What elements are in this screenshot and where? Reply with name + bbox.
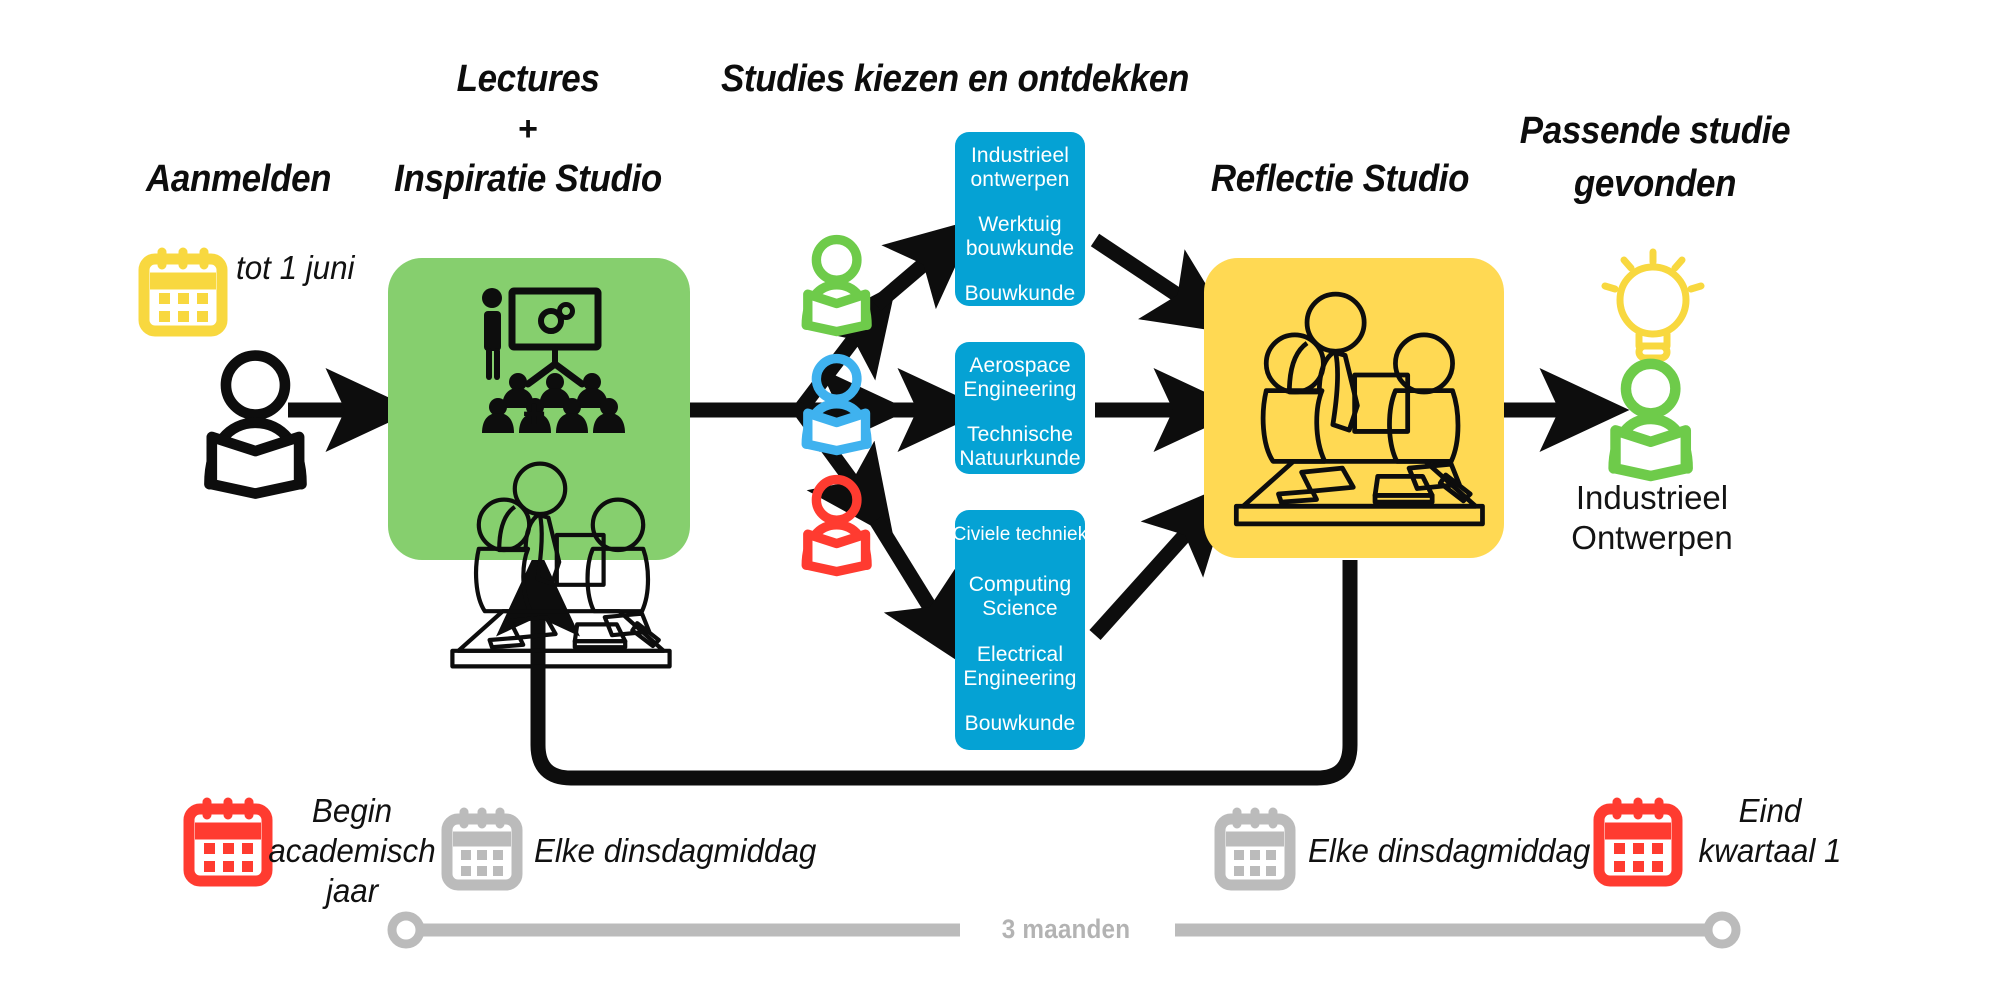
person-reading-blue-icon <box>806 359 867 451</box>
timeline-marker-label-begin-2: academisch <box>268 833 435 870</box>
timeline-duration-label: 3 maanden <box>1002 914 1131 945</box>
timeline-endpoint-right <box>1708 916 1736 944</box>
study-box-bottom-item-2-line-2: Science <box>982 597 1057 621</box>
heading-passende-studie-line2: gevonden <box>1574 163 1736 206</box>
timeline-marker-label-eind-2: kwartaal 1 <box>1699 833 1842 870</box>
study-box-bottom-item-1-line-1: Civiele techniek <box>953 524 1088 546</box>
study-box-bottom-item-4-line-1: Bouwkunde <box>965 712 1076 736</box>
green-box-plus: + <box>522 392 545 437</box>
person-reading-red-icon <box>806 480 867 572</box>
study-box-top-item-1-line-2: ontwerpen <box>971 168 1070 192</box>
study-box-middle-item-1-line-1: Aerospace <box>969 354 1070 378</box>
calendar-icon-eind-kwartaal-1 <box>1599 802 1677 881</box>
outcome-person-reading-green-icon <box>1614 364 1688 476</box>
calendar-icon-elke-dinsdagmiddag-left <box>447 812 517 885</box>
heading-passende-studie-line1: Passende studie <box>1520 110 1790 153</box>
calendar-icon-elke-dinsdagmiddag-right <box>1220 812 1290 885</box>
timeline-marker-label-begin-3: jaar <box>326 873 378 910</box>
aanmelden-deadline-label: tot 1 juni <box>236 250 355 287</box>
study-box-top-item-3-line-1: Bouwkunde <box>965 282 1076 306</box>
person-reading-green-icon <box>806 240 867 332</box>
study-box-bottom-item-3-line-1: Electrical <box>977 643 1063 667</box>
outcome-label-line2: Ontwerpen <box>1571 518 1732 558</box>
calendar-icon-begin-academisch-jaar <box>189 802 267 881</box>
heading-lectures-plus: + <box>518 110 538 149</box>
heading-studies-kiezen: Studies kiezen en ontdekken <box>721 58 1189 101</box>
heading-lectures: Lectures <box>457 58 600 101</box>
study-box-top-item-1-line-1: Industrieel <box>971 144 1069 168</box>
lightbulb-icon <box>1605 252 1701 358</box>
timeline-marker-label-dinsdag-right: Elke dinsdagmiddag <box>1308 833 1590 870</box>
heading-inspiratie-studio: Inspiratie Studio <box>394 158 662 201</box>
timeline-marker-label-eind-1: Eind <box>1739 793 1802 830</box>
heading-aanmelden: Aanmelden <box>146 158 331 201</box>
study-box-bottom-item-2-line-1: Computing <box>969 573 1071 597</box>
study-box-bottom-item-3-line-2: Engineering <box>963 667 1076 691</box>
timeline-marker-label-dinsdag-left: Elke dinsdagmiddag <box>534 833 816 870</box>
calendar-icon-aanmelden <box>144 252 222 331</box>
diagram-canvas: Aanmelden Lectures + Inspiratie Studio S… <box>0 0 2000 1000</box>
outcome-label-line1: Industrieel <box>1576 478 1728 518</box>
study-box-middle-item-2-line-2: Natuurkunde <box>959 447 1080 471</box>
study-box-top-item-2-line-1: Werktuig <box>978 213 1061 237</box>
study-box-middle-item-2-line-1: Technische <box>967 423 1073 447</box>
study-box-top-item-2-line-2: bouwkunde <box>966 237 1074 261</box>
person-reading-icon <box>209 356 301 494</box>
heading-reflectie-studio: Reflectie Studio <box>1211 158 1469 201</box>
study-box-middle-item-1-line-2: Engineering <box>963 378 1076 402</box>
timeline-endpoint-left <box>392 916 420 944</box>
timeline-marker-label-begin-1: Begin <box>312 793 392 830</box>
